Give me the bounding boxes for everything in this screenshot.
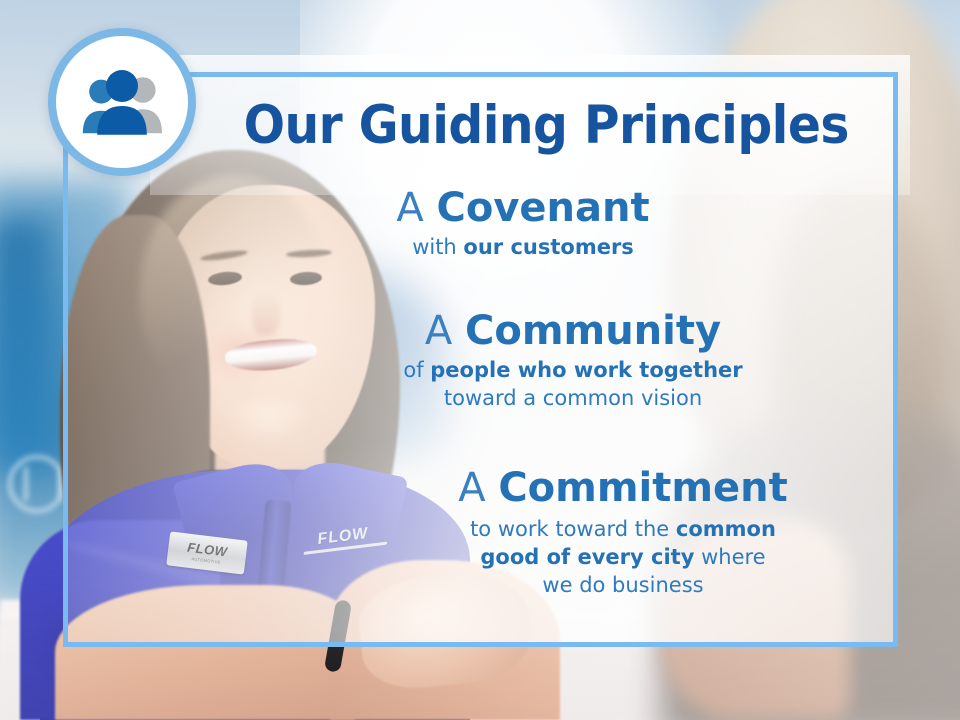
banner-graphic: FLOW AUTOMOTIVE FLOW xyxy=(0,0,960,720)
blurred-vw-logo-icon xyxy=(8,455,66,513)
principle-subtext-tail: where xyxy=(694,545,765,569)
principle-subtext-part: to work toward the xyxy=(470,517,676,541)
principle-subtext-emphasis: common xyxy=(676,517,776,541)
principle-subtext-emphasis: people who work together xyxy=(430,358,742,382)
principle-subtext: with our customers xyxy=(263,234,783,262)
principle-subtext-emphasis2: good of every city xyxy=(480,545,694,569)
principle-article: A xyxy=(425,308,465,354)
principle-subtext-line3: we do business xyxy=(542,573,703,597)
principle-subtext-part: with xyxy=(412,235,463,259)
principle-subtext: of people who work together toward a com… xyxy=(313,357,833,412)
principle-keyword: Covenant xyxy=(436,185,649,231)
principle-subtext-line2: toward a common vision xyxy=(444,386,702,410)
principle-heading: A Covenant xyxy=(263,187,783,230)
principle-subtext-part: of xyxy=(403,358,430,382)
principle-article: A xyxy=(396,185,436,231)
principle-community: A Community of people who work together … xyxy=(313,310,833,413)
principle-commitment: A Commitment to work toward the common g… xyxy=(363,467,883,599)
principle-subtext: to work toward the common good of every … xyxy=(363,516,883,599)
principle-heading: A Commitment xyxy=(363,467,883,510)
principle-keyword: Community xyxy=(465,308,721,354)
principle-covenant: A Covenant with our customers xyxy=(263,187,783,262)
principle-article: A xyxy=(458,465,498,511)
message-block: Our Guiding Principles A Covenant with o… xyxy=(63,72,898,647)
blurred-banner-accent xyxy=(0,220,50,470)
principle-heading: A Community xyxy=(313,310,833,353)
page-title: Our Guiding Principles xyxy=(244,98,833,153)
principle-keyword: Commitment xyxy=(498,465,787,511)
principle-subtext-emphasis: our customers xyxy=(463,235,633,259)
